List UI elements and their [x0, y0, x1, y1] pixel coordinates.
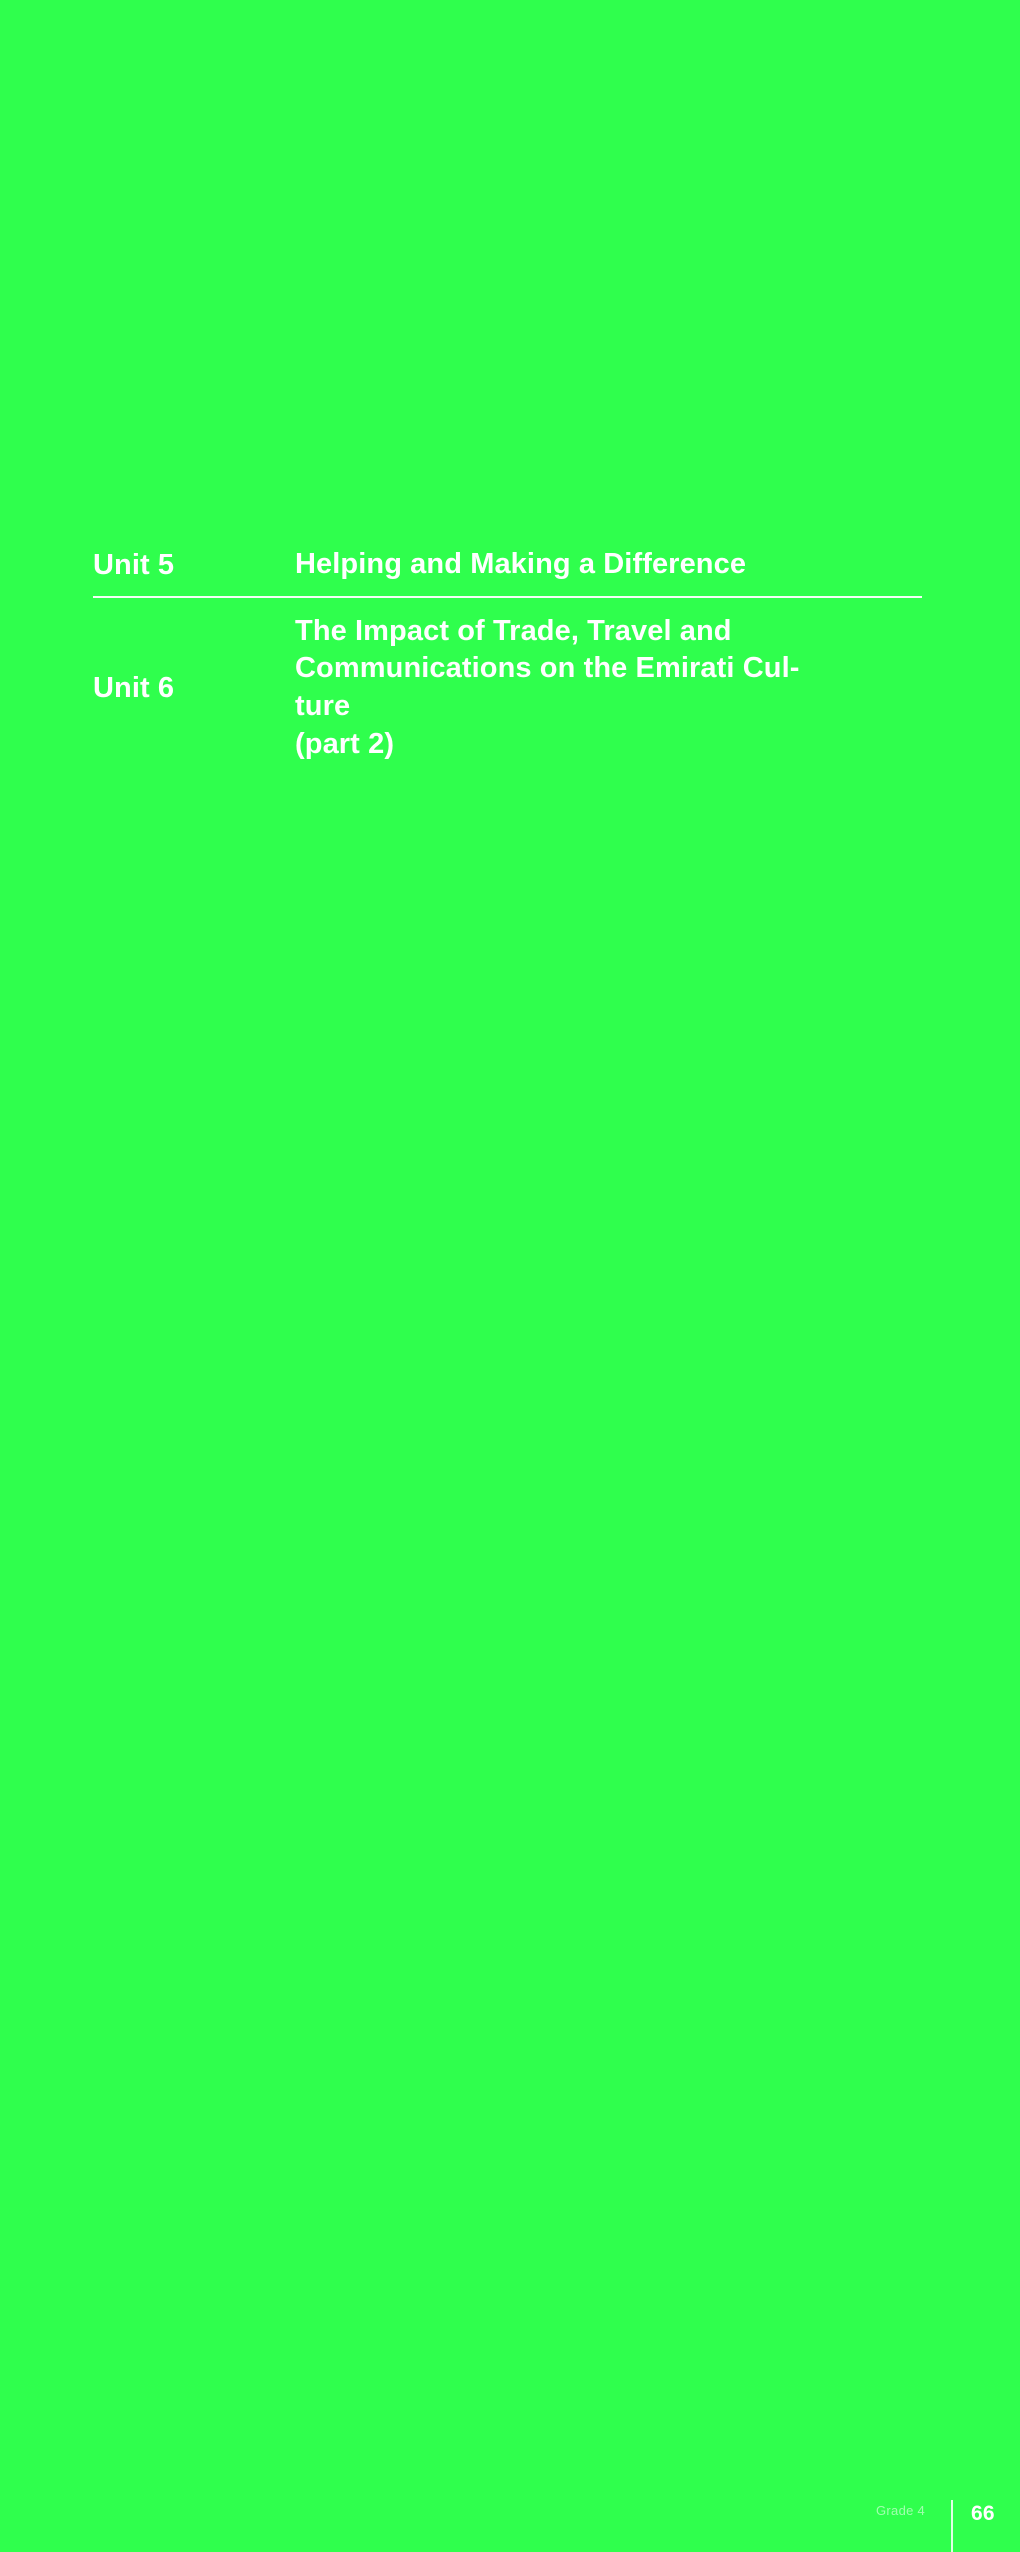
toc-divider — [93, 596, 922, 598]
toc-entry-unit-5[interactable]: Unit 5 Helping and Making a Difference — [93, 534, 923, 596]
unit-label-5: Unit 5 — [93, 549, 295, 581]
unit-title-6-line-4: (part 2) — [295, 726, 905, 764]
unit-title-6-line-2: Communications on the Emirati Cul- — [295, 650, 905, 688]
footer-grade-label: Grade 4 — [876, 2503, 925, 2518]
unit-title-6: The Impact of Trade, Travel and Communic… — [295, 613, 905, 764]
toc-entry-unit-6[interactable]: Unit 6 The Impact of Trade, Travel and C… — [93, 598, 923, 774]
unit-title-5-line-1: Helping and Making a Difference — [295, 546, 905, 584]
table-of-contents: Unit 5 Helping and Making a Difference U… — [93, 534, 923, 774]
page-canvas: Unit 5 Helping and Making a Difference U… — [0, 0, 1020, 1304]
page-number: 66 — [971, 2502, 995, 2526]
page-footer: Grade 4 66 — [0, 1248, 1020, 1304]
footer-divider — [951, 2500, 953, 2552]
unit-title-6-line-3: ture — [295, 688, 905, 726]
unit-title-6-line-1: The Impact of Trade, Travel and — [295, 613, 905, 651]
unit-label-6: Unit 6 — [93, 672, 295, 704]
unit-title-5: Helping and Making a Difference — [295, 546, 905, 584]
